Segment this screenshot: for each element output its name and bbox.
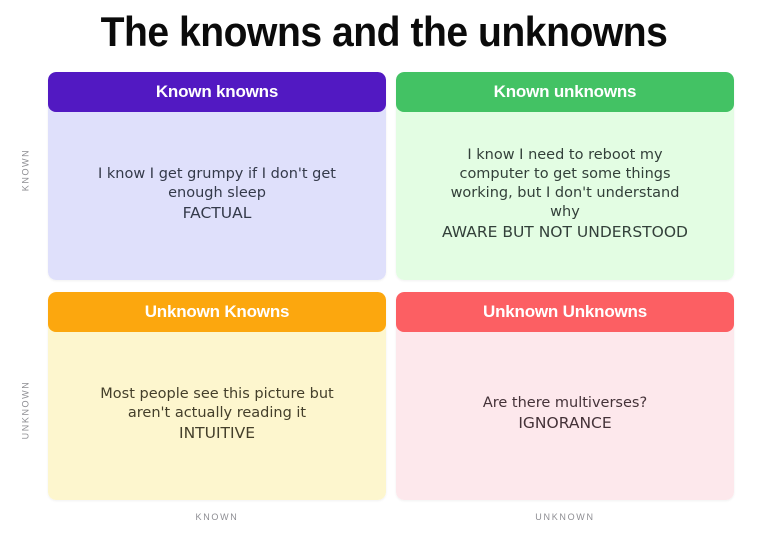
quadrant-body-known-knowns: I know I get grumpy if I don't get enoug… [48, 104, 386, 280]
quadrant-known-unknowns: Known unknowns I know I need to reboot m… [396, 72, 734, 280]
axis-label-y-known-text: KNOWN [20, 149, 30, 192]
axis-label-y-known: KNOWN [14, 110, 36, 230]
quadrant-tag-unknown-unknowns: IGNORANCE [518, 413, 611, 433]
axis-label-x-known: KNOWN [48, 512, 386, 522]
quadrant-text-known-knowns: I know I get grumpy if I don't get enoug… [92, 165, 342, 203]
quadrant-body-unknown-knowns: Most people see this picture but aren't … [48, 324, 386, 500]
quadrant-text-unknown-knowns: Most people see this picture but aren't … [92, 385, 342, 423]
quadrant-header-known-knowns: Known knowns [48, 72, 386, 112]
axis-label-x-unknown: UNKNOWN [396, 512, 734, 522]
quadrant-text-known-unknowns: I know I need to reboot my computer to g… [440, 146, 690, 223]
knowns-unknowns-matrix: The knowns and the unknowns KNOWN UNKNOW… [0, 0, 768, 542]
quadrant-tag-known-unknowns: AWARE BUT NOT UNDERSTOOD [442, 222, 688, 242]
quadrant-unknown-knowns: Unknown Knowns Most people see this pict… [48, 292, 386, 500]
quadrant-known-knowns: Known knowns I know I get grumpy if I do… [48, 72, 386, 280]
page-title: The knowns and the unknowns [27, 8, 741, 56]
quadrant-header-known-unknowns: Known unknowns [396, 72, 734, 112]
quadrant-body-known-unknowns: I know I need to reboot my computer to g… [396, 104, 734, 280]
quadrant-tag-known-knowns: FACTUAL [183, 203, 252, 223]
quadrant-unknown-unknowns: Unknown Unknowns Are there multiverses? … [396, 292, 734, 500]
axis-label-y-unknown-text: UNKNOWN [20, 381, 30, 440]
quadrant-tag-unknown-knowns: INTUITIVE [179, 423, 255, 443]
axis-label-y-unknown: UNKNOWN [14, 350, 36, 470]
quadrant-header-unknown-unknowns: Unknown Unknowns [396, 292, 734, 332]
matrix-grid: Known knowns I know I get grumpy if I do… [48, 72, 734, 500]
quadrant-body-unknown-unknowns: Are there multiverses? IGNORANCE [396, 324, 734, 500]
quadrant-header-unknown-knowns: Unknown Knowns [48, 292, 386, 332]
quadrant-text-unknown-unknowns: Are there multiverses? [483, 394, 647, 413]
